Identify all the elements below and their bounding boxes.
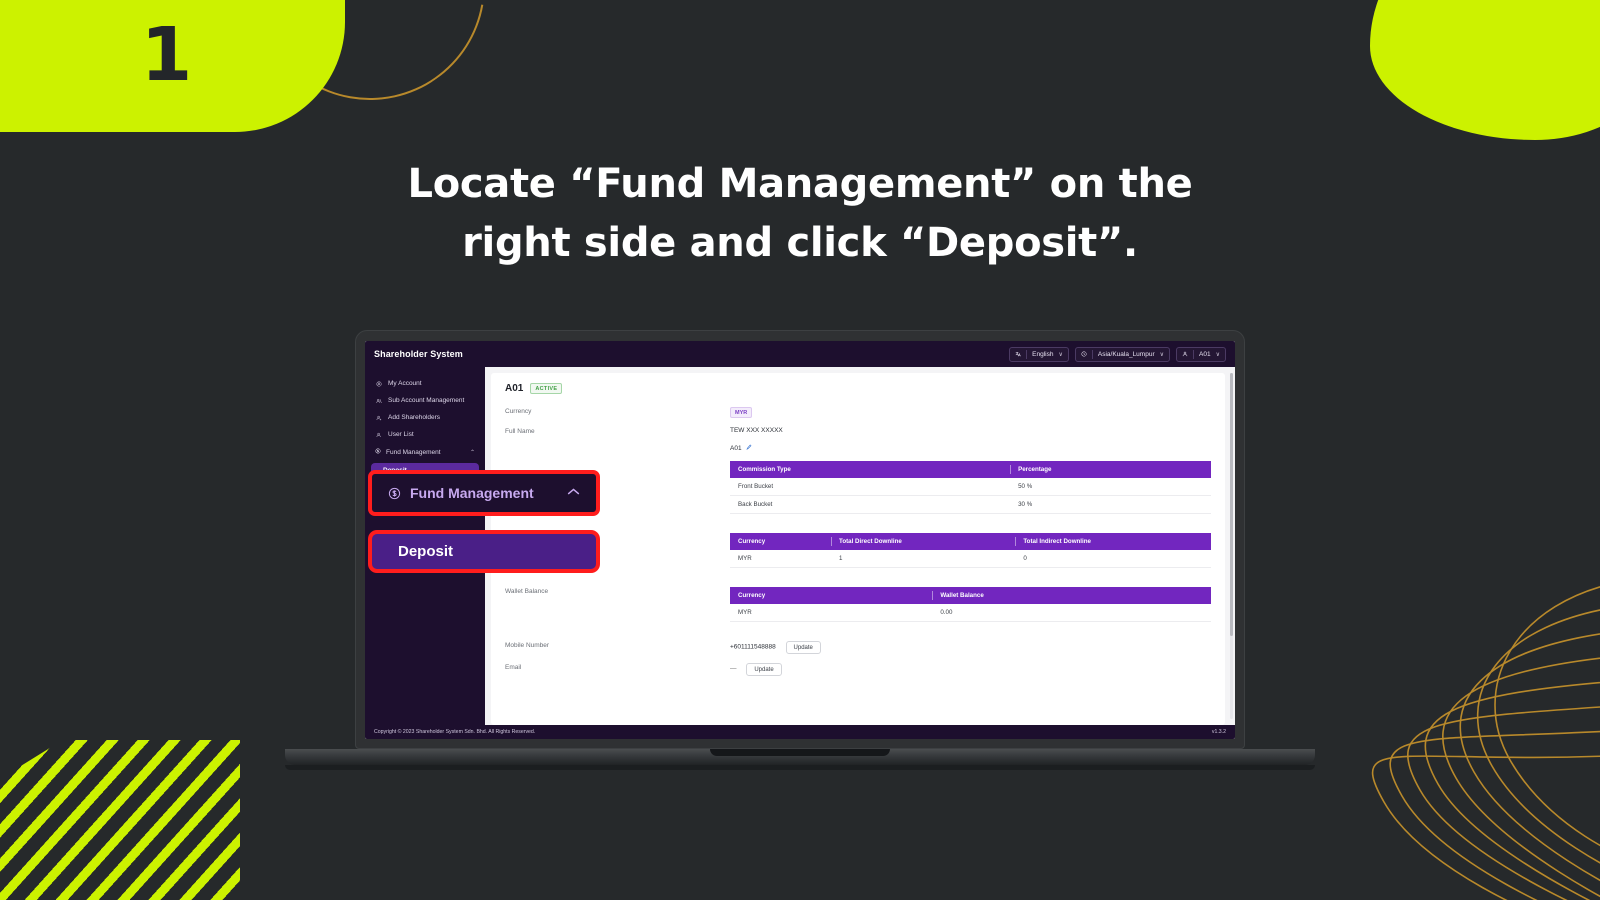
- add-user-icon: [375, 415, 383, 421]
- page-title: A01: [505, 383, 523, 394]
- clock-icon: [1081, 351, 1087, 357]
- commission-table: Commission Type Percentage Front Bucket: [730, 461, 1211, 514]
- footer-version: v1.3.2: [1212, 729, 1226, 735]
- diagonal-stripes-decoration: [0, 740, 240, 900]
- cell-currency: MYR: [730, 550, 831, 568]
- gold-arc-decoration: [210, 0, 530, 145]
- table-header-row: Commission Type Percentage: [730, 461, 1211, 478]
- app-topbar: Shareholder System English ∨: [365, 341, 1235, 367]
- column-header: Total Indirect Downline: [1015, 533, 1211, 550]
- user-menu[interactable]: A01 ∨: [1176, 347, 1226, 362]
- cell-percentage: 50 %: [1010, 478, 1211, 496]
- column-header: Total Direct Downline: [831, 533, 1015, 550]
- footer-copyright: Copyright © 2023 Shareholder System Sdn.…: [374, 729, 535, 735]
- topbar-controls: English ∨ Asia/Kuala_Lumpur ∨: [1009, 347, 1226, 362]
- headline-line-1: Locate “Fund Management” on the: [0, 155, 1600, 214]
- dollar-circle-icon: [375, 448, 381, 456]
- sidebar-item-add-shareholders[interactable]: Add Shareholders: [365, 409, 485, 426]
- user-list-icon: [375, 432, 383, 438]
- wallet-section: Wallet Balance Currency Wallet Balance: [505, 587, 1211, 632]
- app-footer: Copyright © 2023 Shareholder System Sdn.…: [365, 725, 1235, 739]
- downline-table: Currency Total Direct Downline Total Ind…: [730, 533, 1211, 568]
- column-header: Wallet Balance: [932, 587, 1211, 604]
- table-row: MYR 1 0: [730, 550, 1211, 568]
- account-header: A01 ACTIVE: [505, 383, 1211, 394]
- sidebar-item-label: Sub Account Management: [388, 397, 464, 404]
- cell-currency: MYR: [730, 604, 932, 622]
- table-header-row: Currency Wallet Balance: [730, 587, 1211, 604]
- user-icon: [1182, 351, 1188, 357]
- laptop-base: [285, 749, 1315, 765]
- field-value: TEW XXX XXXXX: [730, 427, 1211, 434]
- headline-line-2: right side and click “Deposit”.: [0, 214, 1600, 273]
- sidebar-item-sub-account-management[interactable]: Sub Account Management: [365, 392, 485, 409]
- field-account-alias: A01: [505, 444, 1211, 452]
- chevron-down-icon: ∨: [1160, 351, 1164, 358]
- update-email-button[interactable]: Update: [746, 663, 781, 676]
- sidebar-item-user-list[interactable]: User List: [365, 426, 485, 443]
- chevron-down-icon: ∨: [1216, 351, 1220, 358]
- callout-fund-management[interactable]: Fund Management: [368, 470, 600, 516]
- table-header-row: Currency Total Direct Downline Total Ind…: [730, 533, 1211, 550]
- table-row: MYR 0.00: [730, 604, 1211, 622]
- chevron-up-icon: [567, 487, 580, 499]
- status-badge: ACTIVE: [530, 383, 562, 394]
- field-value: A01: [730, 445, 742, 452]
- laptop-trackpad-notch: [710, 749, 890, 756]
- account-detail-card: A01 ACTIVE Currency MYR Full Name: [491, 373, 1225, 725]
- scrollbar-thumb[interactable]: [1230, 373, 1233, 636]
- translate-icon: [1015, 351, 1021, 357]
- field-label: Mobile Number: [505, 641, 730, 649]
- callout-deposit-label: Deposit: [398, 543, 453, 560]
- sidebar-item-my-account[interactable]: My Account: [365, 375, 485, 392]
- field-currency: Currency MYR: [505, 407, 1211, 418]
- pencil-icon[interactable]: [746, 444, 752, 452]
- field-label: Email: [505, 663, 730, 671]
- divider: [1193, 350, 1194, 359]
- laptop-foot: [285, 765, 1315, 770]
- chevron-down-icon: ∨: [1058, 351, 1062, 358]
- update-mobile-button[interactable]: Update: [786, 641, 821, 654]
- table-row: Back Bucket 30 %: [730, 496, 1211, 514]
- user-value: A01: [1199, 351, 1211, 358]
- cell-wallet-balance: 0.00: [932, 604, 1211, 622]
- sidebar-group-label: Fund Management: [386, 449, 441, 456]
- cell-commission-type: Front Bucket: [730, 478, 1010, 496]
- commission-section: Commission Type Percentage Front Bucket: [505, 461, 1211, 524]
- timezone-selector[interactable]: Asia/Kuala_Lumpur ∨: [1075, 347, 1170, 362]
- dollar-circle-icon: [388, 487, 401, 500]
- step-number-badge: 1: [0, 0, 345, 132]
- field-email: Email — Update: [505, 663, 1211, 676]
- cell-indirect-downline: 0: [1015, 550, 1211, 568]
- language-selector[interactable]: English ∨: [1009, 347, 1069, 362]
- step-number: 1: [113, 0, 193, 92]
- column-header: Currency: [730, 587, 932, 604]
- field-label: [505, 444, 730, 445]
- chevron-up-icon: ⌃: [470, 449, 475, 456]
- divider: [1092, 350, 1093, 359]
- callout-fund-label: Fund Management: [410, 485, 534, 501]
- field-label: Full Name: [505, 427, 730, 435]
- app-brand-title: Shareholder System: [374, 349, 463, 359]
- cell-commission-type: Back Bucket: [730, 496, 1010, 514]
- mobile-number-value: +601111548888: [730, 644, 776, 651]
- field-full-name: Full Name TEW XXX XXXXX: [505, 427, 1211, 435]
- language-value: English: [1032, 351, 1053, 358]
- wallet-table: Currency Wallet Balance MYR 0.00: [730, 587, 1211, 622]
- sidebar-item-label: User List: [388, 431, 414, 438]
- table-row: Front Bucket 50 %: [730, 478, 1211, 496]
- currency-chip: MYR: [730, 407, 752, 418]
- cell-direct-downline: 1: [831, 550, 1015, 568]
- field-label: Wallet Balance: [505, 587, 730, 595]
- sidebar-item-label: My Account: [388, 380, 422, 387]
- column-header: Commission Type: [730, 461, 1010, 478]
- field-mobile-number: Mobile Number +601111548888 Update: [505, 641, 1211, 654]
- field-label: Currency: [505, 407, 730, 415]
- sidebar-group-fund-management[interactable]: Fund Management ⌃: [365, 443, 485, 461]
- content-scrollbar[interactable]: [1230, 373, 1233, 719]
- sidebar-item-label: Add Shareholders: [388, 414, 440, 421]
- sub-account-icon: [375, 398, 383, 404]
- email-value: —: [730, 666, 737, 673]
- divider: [1026, 350, 1027, 359]
- account-icon: [375, 381, 383, 387]
- green-blob-top-right: [1370, 0, 1600, 140]
- callout-deposit[interactable]: Deposit: [368, 530, 600, 573]
- cell-percentage: 30 %: [1010, 496, 1211, 514]
- downline-section: Total Downline Currency Total Direct Dow…: [505, 533, 1211, 578]
- column-header: Percentage: [1010, 461, 1211, 478]
- instruction-headline: Locate “Fund Management” on the right si…: [0, 155, 1600, 273]
- column-header: Currency: [730, 533, 831, 550]
- timezone-value: Asia/Kuala_Lumpur: [1098, 351, 1155, 358]
